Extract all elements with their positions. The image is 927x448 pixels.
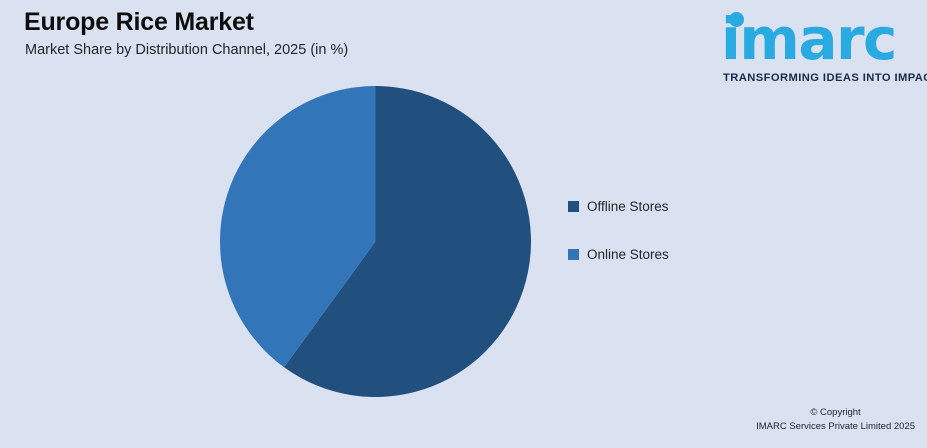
logo-tagline: TRANSFORMING IDEAS INTO IMPACT: [723, 72, 927, 84]
legend-swatch-icon: [568, 249, 579, 260]
pie-chart-svg: [220, 86, 531, 397]
legend-swatch-icon: [568, 201, 579, 212]
legend-item-offline-stores[interactable]: Offline Stores: [568, 198, 669, 214]
pie-chart: [220, 86, 531, 397]
logo-dot-icon: [729, 12, 744, 27]
copyright-line-2: IMARC Services Private Limited 2025: [756, 420, 915, 434]
legend-item-online-stores[interactable]: Online Stores: [568, 246, 669, 262]
chart-title: Europe Rice Market: [24, 8, 254, 37]
chart-subtitle: Market Share by Distribution Channel, 20…: [25, 42, 348, 58]
chart-legend: Offline Stores Online Stores: [568, 198, 669, 294]
logo-wordmark: imarc: [721, 10, 896, 68]
copyright-notice: © Copyright IMARC Services Private Limit…: [756, 406, 915, 434]
imarc-logo: imarc TRANSFORMING IDEAS INTO IMPACT: [721, 6, 917, 88]
chart-canvas: Europe Rice Market Market Share by Distr…: [0, 0, 927, 448]
copyright-line-1: © Copyright: [756, 406, 915, 420]
legend-label: Online Stores: [587, 247, 669, 262]
legend-label: Offline Stores: [587, 199, 669, 214]
